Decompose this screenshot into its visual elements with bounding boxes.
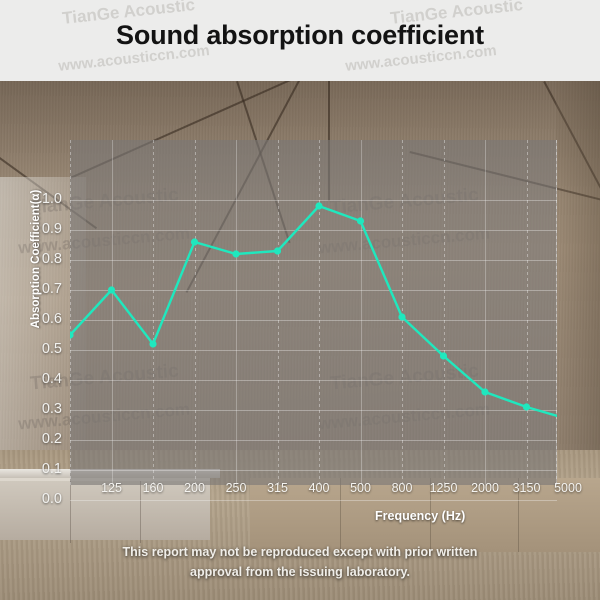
x-axis-label: Frequency (Hz)	[375, 509, 465, 523]
series-markers	[70, 202, 557, 422]
x-axis-tick-label: 160	[131, 481, 175, 495]
footer-disclaimer: This report may not be reproduced except…	[0, 542, 600, 582]
data-point	[232, 250, 239, 257]
series-line-chart	[70, 140, 557, 485]
x-axis-tick-label: 800	[380, 481, 424, 495]
data-point	[315, 202, 322, 209]
data-point	[523, 403, 530, 410]
x-axis-tick-label: 125	[90, 481, 134, 495]
data-point	[191, 238, 198, 245]
y-axis-tick-label: 0.3	[18, 401, 62, 417]
room-photo-background: TianGe Acoustic www.acousticcn.com TianG…	[0, 81, 600, 600]
y-axis-tick-label: 0.0	[18, 491, 62, 507]
y-axis-label: Absorption Coefficient(α)	[30, 159, 42, 359]
cabinet-seam	[70, 481, 71, 543]
footer-line-1: This report may not be reproduced except…	[0, 542, 600, 562]
y-axis-tick-label: 0.1	[18, 461, 62, 477]
y-axis-tick-label: 0.4	[18, 371, 62, 387]
x-axis-tick-label: 5000	[546, 481, 590, 495]
x-axis-tick-label: 200	[173, 481, 217, 495]
x-axis-tick-label: 315	[256, 481, 300, 495]
y-axis-tick-label: 0.2	[18, 431, 62, 447]
header-band: TianGe Acoustic www.acousticcn.com TianG…	[0, 0, 600, 81]
data-point	[357, 217, 364, 224]
x-axis-tick-label: 1250	[422, 481, 466, 495]
data-point	[149, 340, 156, 347]
data-point	[398, 313, 405, 320]
footer-line-2: approval from the issuing laboratory.	[0, 562, 600, 582]
series-polyline	[70, 206, 557, 419]
gridline-horizontal	[70, 500, 557, 501]
report-page: TianGe Acoustic www.acousticcn.com TianG…	[0, 0, 600, 600]
x-axis-tick-label: 400	[297, 481, 341, 495]
x-axis-tick-label: 2000	[463, 481, 507, 495]
data-point	[481, 388, 488, 395]
data-point	[440, 352, 447, 359]
page-title: Sound absorption coefficient	[0, 20, 600, 51]
x-axis-tick-label: 3150	[505, 481, 549, 495]
right-pillar	[556, 81, 600, 501]
x-axis-tick-label: 500	[339, 481, 383, 495]
data-point	[108, 286, 115, 293]
x-axis-tick-label: 250	[214, 481, 258, 495]
data-point	[274, 247, 281, 254]
